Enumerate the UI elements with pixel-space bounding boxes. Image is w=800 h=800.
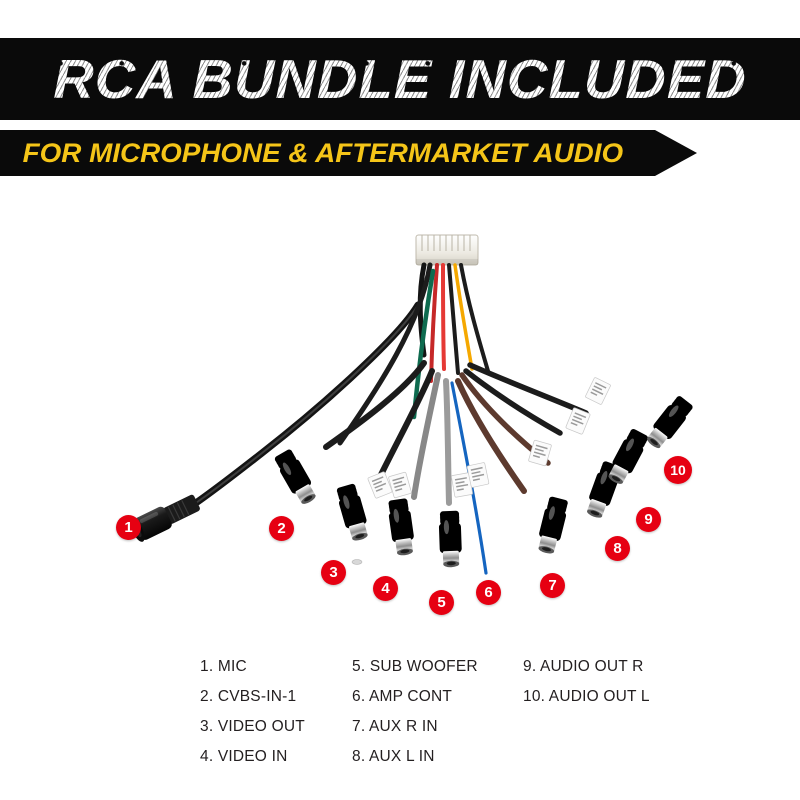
legend-item-2: 2. CVBS-IN-1 xyxy=(200,682,305,712)
legend-column-1: 1. MIC 2. CVBS-IN-1 3. VIDEO OUT 4. VIDE… xyxy=(200,652,305,772)
callout-badge-5: 5 xyxy=(429,590,454,615)
callout-badge-10: 10 xyxy=(664,456,692,484)
legend-item-7: 7. AUX R IN xyxy=(352,712,478,742)
subhead-banner: FOR MICROPHONE & AFTERMARKET AUDIO xyxy=(0,130,655,176)
subhead-text: FOR MICROPHONE & AFTERMARKET AUDIO xyxy=(0,138,623,169)
legend-item-10: 10. AUDIO OUT L xyxy=(523,682,650,712)
callout-badge-7: 7 xyxy=(540,573,565,598)
legend-item-1: 1. MIC xyxy=(200,652,305,682)
headline-text: RCA BUNDLE INCLUDED xyxy=(53,52,747,107)
callout-badge-9: 9 xyxy=(636,507,661,532)
callout-badge-1: 1 xyxy=(116,515,141,540)
legend-column-2: 5. SUB WOOFER 6. AMP CONT 7. AUX R IN 8.… xyxy=(352,652,478,772)
callout-badge-6: 6 xyxy=(476,580,501,605)
callout-badge-8: 8 xyxy=(605,536,630,561)
legend: 1. MIC 2. CVBS-IN-1 3. VIDEO OUT 4. VIDE… xyxy=(0,652,800,792)
headline-banner: RCA BUNDLE INCLUDED xyxy=(0,38,800,120)
callout-badge-4: 4 xyxy=(373,576,398,601)
legend-item-5: 5. SUB WOOFER xyxy=(352,652,478,682)
legend-item-8: 8. AUX L IN xyxy=(352,742,478,772)
subhead-banner-arrow-icon xyxy=(655,130,697,176)
product-image: RCA BUNDLE INCLUDED FOR MICROPHONE & AFT… xyxy=(0,0,800,800)
legend-column-3: 9. AUDIO OUT R 10. AUDIO OUT L xyxy=(523,652,650,712)
legend-item-9: 9. AUDIO OUT R xyxy=(523,652,650,682)
legend-item-4: 4. VIDEO IN xyxy=(200,742,305,772)
callout-badge-2: 2 xyxy=(269,516,294,541)
harness-photo xyxy=(0,185,800,640)
callout-badge-3: 3 xyxy=(321,560,346,585)
legend-item-3: 3. VIDEO OUT xyxy=(200,712,305,742)
legend-item-6: 6. AMP CONT xyxy=(352,682,478,712)
